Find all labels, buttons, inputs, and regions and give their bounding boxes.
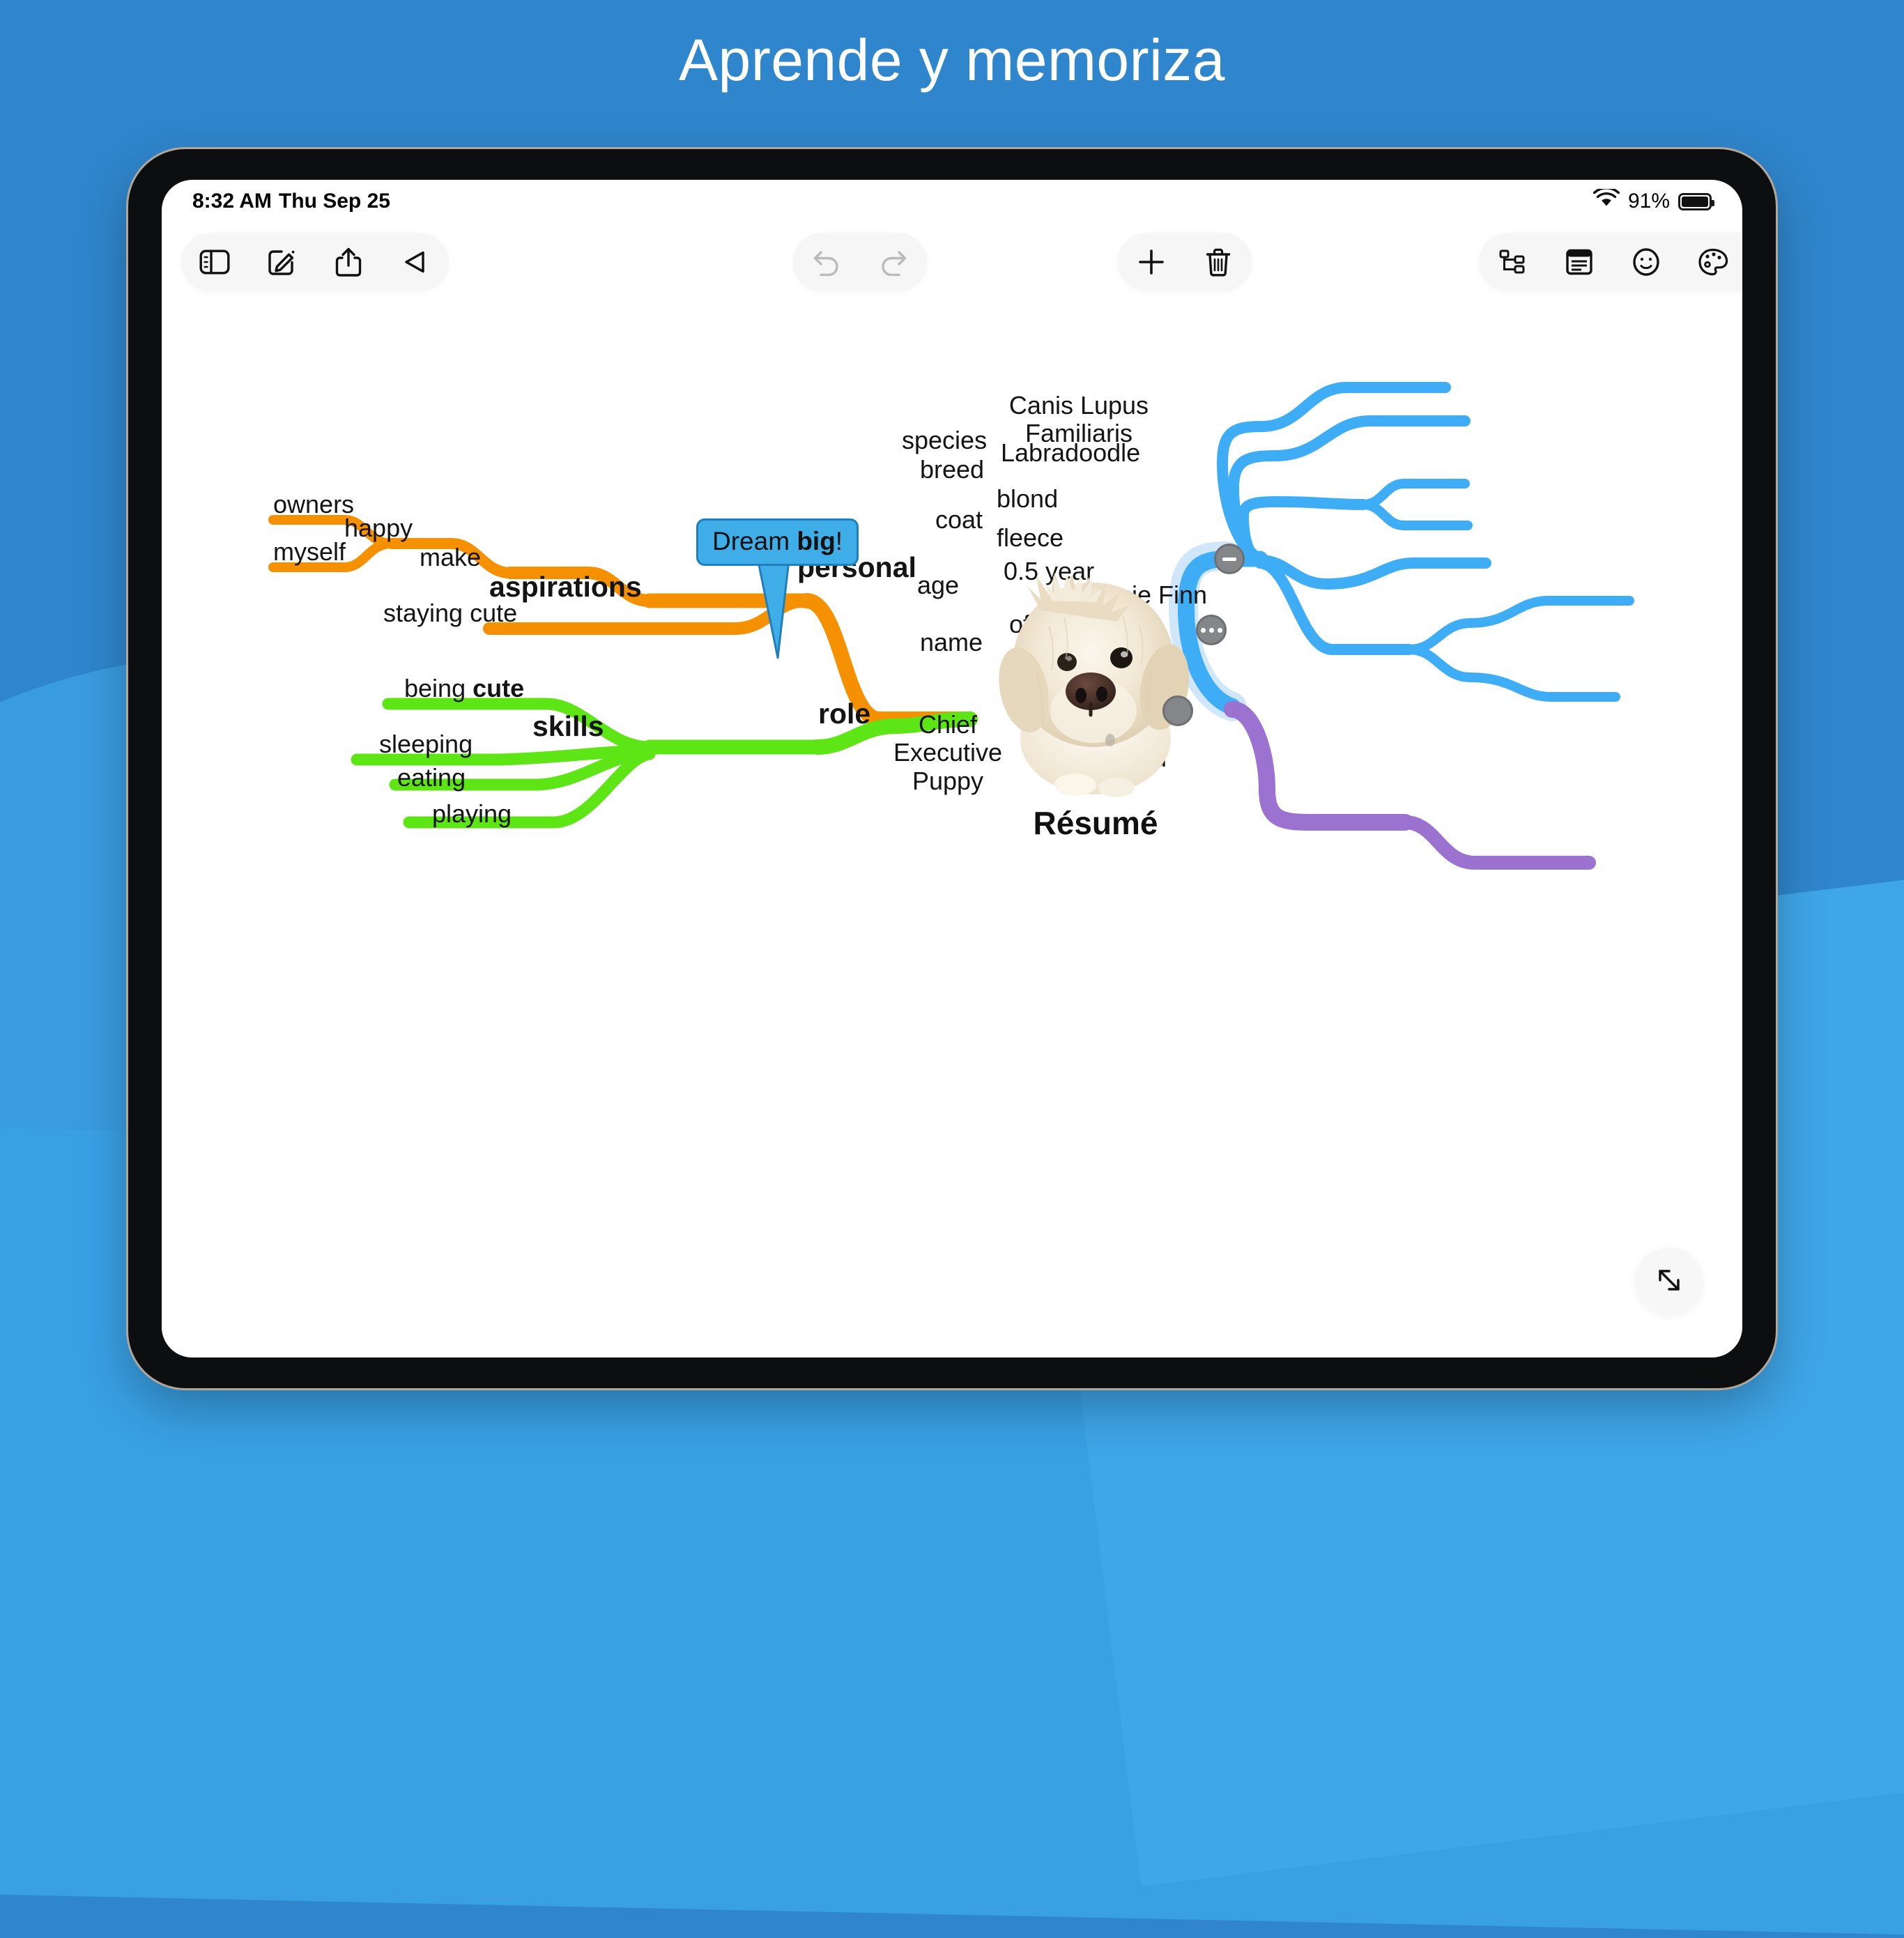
emoji-button[interactable] (1613, 233, 1680, 291)
branch-call (1409, 649, 1615, 697)
node-being-cute[interactable]: being cute (404, 675, 524, 702)
branch-chief-executive-puppy (1405, 822, 1589, 863)
undo-arrow-icon (811, 248, 842, 276)
branch-fleece (1363, 505, 1468, 525)
app-toolbar (162, 223, 1742, 301)
sidebar-toggle-button[interactable] (181, 233, 248, 291)
undo-button[interactable] (793, 233, 860, 291)
branch-role-trunk (1232, 709, 1405, 822)
ellipsis-icon (1201, 628, 1222, 633)
node-playing[interactable]: playing (432, 800, 512, 828)
node-sleeping[interactable]: sleeping (379, 730, 473, 758)
branch-blond (1363, 484, 1465, 505)
page-title: Aprende y memoriza (0, 28, 1904, 92)
palette-icon (1698, 247, 1728, 277)
trash-icon (1204, 247, 1232, 277)
node-breed[interactable]: breed (920, 456, 984, 484)
central-node-caption[interactable]: Résumé (974, 804, 1218, 842)
node-coat[interactable]: coat (935, 506, 983, 534)
expand-diagonal-arrows-icon (1652, 1263, 1687, 1301)
toolbar-right-group (1479, 233, 1742, 291)
hierarchy-tree-icon (1498, 247, 1527, 277)
tablet-device-frame: 8:32 AM Thu Sep 25 91% (128, 149, 1776, 1388)
node-owners[interactable]: owners (273, 491, 354, 518)
branch-breed (1234, 421, 1465, 559)
node-age[interactable]: age (917, 571, 959, 599)
status-bar-time: 8:32 AM (192, 190, 272, 213)
share-up-arrow-icon (335, 247, 362, 277)
status-bar-left: 8:32 AM Thu Sep 25 (192, 190, 390, 213)
root-drag-handle[interactable] (1162, 695, 1193, 726)
status-bar-date: Thu Sep 25 (279, 190, 390, 213)
dog-photo (974, 567, 1218, 797)
status-bar-right: 91% (1593, 189, 1712, 214)
presentation-button[interactable] (382, 233, 449, 291)
wifi-icon (1593, 189, 1620, 214)
node-canis-line1: Canis Lupus (1009, 391, 1149, 420)
color-palette-button[interactable] (1680, 233, 1742, 291)
smiley-face-icon (1632, 247, 1661, 277)
node-staying-cute[interactable]: staying cute (383, 599, 517, 627)
node-labradoodle[interactable]: Labradoodle (1001, 439, 1140, 467)
share-button[interactable] (315, 233, 382, 291)
callout-bubble[interactable]: Dream big! (696, 518, 859, 566)
pencil-square-icon (267, 247, 296, 277)
redo-button[interactable] (860, 233, 927, 291)
node-being-cute-text: being (404, 674, 473, 702)
fit-to-screen-button[interactable] (1635, 1247, 1703, 1316)
node-chief-line2: Puppy (912, 767, 983, 795)
node-blond[interactable]: blond (997, 485, 1058, 513)
note-button[interactable] (1546, 233, 1613, 291)
central-node-image[interactable] (974, 567, 1218, 797)
node-role[interactable]: role (818, 698, 870, 730)
edit-button[interactable] (248, 233, 315, 291)
battery-icon (1678, 193, 1712, 210)
node-fleece[interactable]: fleece (997, 524, 1064, 552)
battery-percent-label: 91% (1628, 190, 1670, 213)
collapse-handle[interactable] (1214, 544, 1245, 574)
mindmap-canvas[interactable]: owners myself happy make aspirations sta… (162, 301, 1742, 1358)
layout-button[interactable] (1479, 233, 1546, 291)
toolbar-left-group (181, 233, 449, 291)
note-lines-icon (1565, 248, 1594, 276)
callout-tail (750, 546, 840, 686)
callout-text: Dream (712, 527, 797, 555)
branch-age (1260, 560, 1486, 584)
toolbar-add-group (1118, 233, 1252, 291)
minus-icon (1222, 557, 1236, 561)
node-myself[interactable]: myself (273, 538, 346, 566)
node-being-cute-emphasis: cute (473, 674, 524, 702)
callout-text-emphasis: big (797, 527, 835, 555)
play-left-triangle-icon (401, 249, 429, 275)
node-eating[interactable]: eating (397, 764, 466, 792)
status-bar: 8:32 AM Thu Sep 25 91% (162, 180, 1742, 223)
node-happy[interactable]: happy (344, 514, 413, 542)
node-skills[interactable]: skills (532, 711, 604, 743)
branch-species (1222, 387, 1445, 559)
delete-node-button[interactable] (1185, 233, 1252, 291)
redo-arrow-icon (878, 248, 909, 276)
add-node-button[interactable] (1118, 233, 1185, 291)
branch-name (1260, 563, 1409, 649)
branch-official (1409, 601, 1629, 649)
node-make[interactable]: make (420, 544, 481, 571)
callout-text-tail: ! (836, 527, 843, 555)
branch-options-handle[interactable] (1196, 615, 1227, 645)
tablet-screen: 8:32 AM Thu Sep 25 91% (162, 180, 1742, 1358)
node-species[interactable]: species (902, 426, 987, 454)
plus-icon (1136, 247, 1167, 277)
toolbar-undo-group (793, 233, 927, 291)
sidebar-icon (199, 249, 230, 275)
